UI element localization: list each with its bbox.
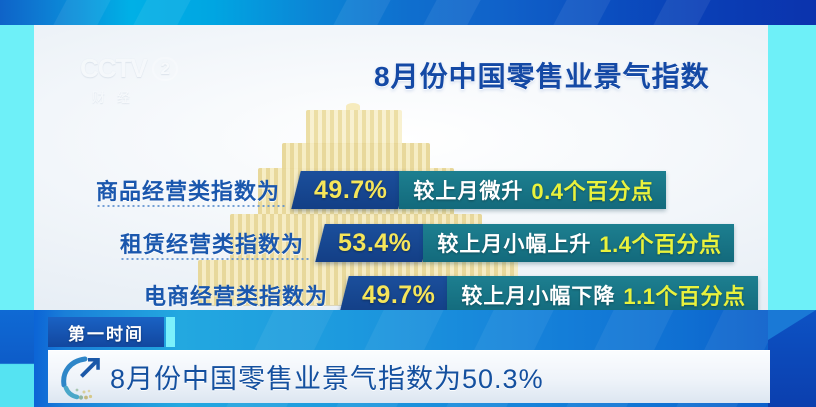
top-gradient-bar xyxy=(0,0,816,25)
row-value: 53.4% xyxy=(320,229,427,258)
left-cyan-rail xyxy=(0,25,34,310)
data-row: 电商经营类指数为 49.7% 较上月小幅下降 1.1个百分点 xyxy=(144,276,758,310)
data-row: 租赁经营类指数为 53.4% 较上月小幅上升 1.4个百分点 xyxy=(120,224,734,262)
program-tag: 第一时间 xyxy=(48,317,164,347)
band-left-block xyxy=(0,310,34,407)
row-value-banner: 49.7% xyxy=(344,276,451,310)
band-right-block xyxy=(768,310,816,407)
ticker-bar: 8月份中国零售业景气指数为50.3% xyxy=(48,350,770,403)
data-row: 商品经营类指数为 49.7% 较上月微升 0.4个百分点 xyxy=(96,171,666,209)
row-value-banner: 53.4% xyxy=(320,224,427,262)
row-change-banner: 较上月小幅下降 1.1个百分点 xyxy=(447,276,757,310)
ticker-headline: 8月份中国零售业景气指数为50.3% xyxy=(110,357,544,396)
broadcast-graphic: CCTV 2 财经 8月份中国零售业景气指数 商品经营类指数为 49.7% 较上… xyxy=(0,0,816,407)
row-value: 49.7% xyxy=(296,176,403,205)
row-value-banner: 49.7% xyxy=(296,171,403,209)
row-delta-value: 0.4个百分点 xyxy=(531,174,653,206)
row-delta-value: 1.4个百分点 xyxy=(599,227,721,259)
row-delta-value: 1.1个百分点 xyxy=(623,279,745,310)
lower-third-band: 第一时间 8月份中国零售业景气指数为50.3% xyxy=(0,310,816,407)
right-cyan-rail xyxy=(768,25,816,310)
content-board: CCTV 2 财经 8月份中国零售业景气指数 商品经营类指数为 49.7% 较上… xyxy=(34,25,768,310)
row-compare-text: 较上月小幅下降 xyxy=(461,280,615,310)
row-label: 电商经营类指数为 xyxy=(144,276,344,310)
program-tag-accent xyxy=(166,317,175,347)
row-compare-text: 较上月小幅上升 xyxy=(437,228,591,258)
row-label: 租赁经营类指数为 xyxy=(120,224,320,262)
growth-arrow-icon xyxy=(54,352,110,402)
row-change-banner: 较上月小幅上升 1.4个百分点 xyxy=(423,224,733,262)
row-change-banner: 较上月微升 0.4个百分点 xyxy=(399,171,665,209)
row-compare-text: 较上月微升 xyxy=(413,175,523,205)
page-title: 8月份中国零售业景气指数 xyxy=(374,55,764,95)
row-label: 商品经营类指数为 xyxy=(96,171,296,209)
row-value: 49.7% xyxy=(344,281,451,310)
